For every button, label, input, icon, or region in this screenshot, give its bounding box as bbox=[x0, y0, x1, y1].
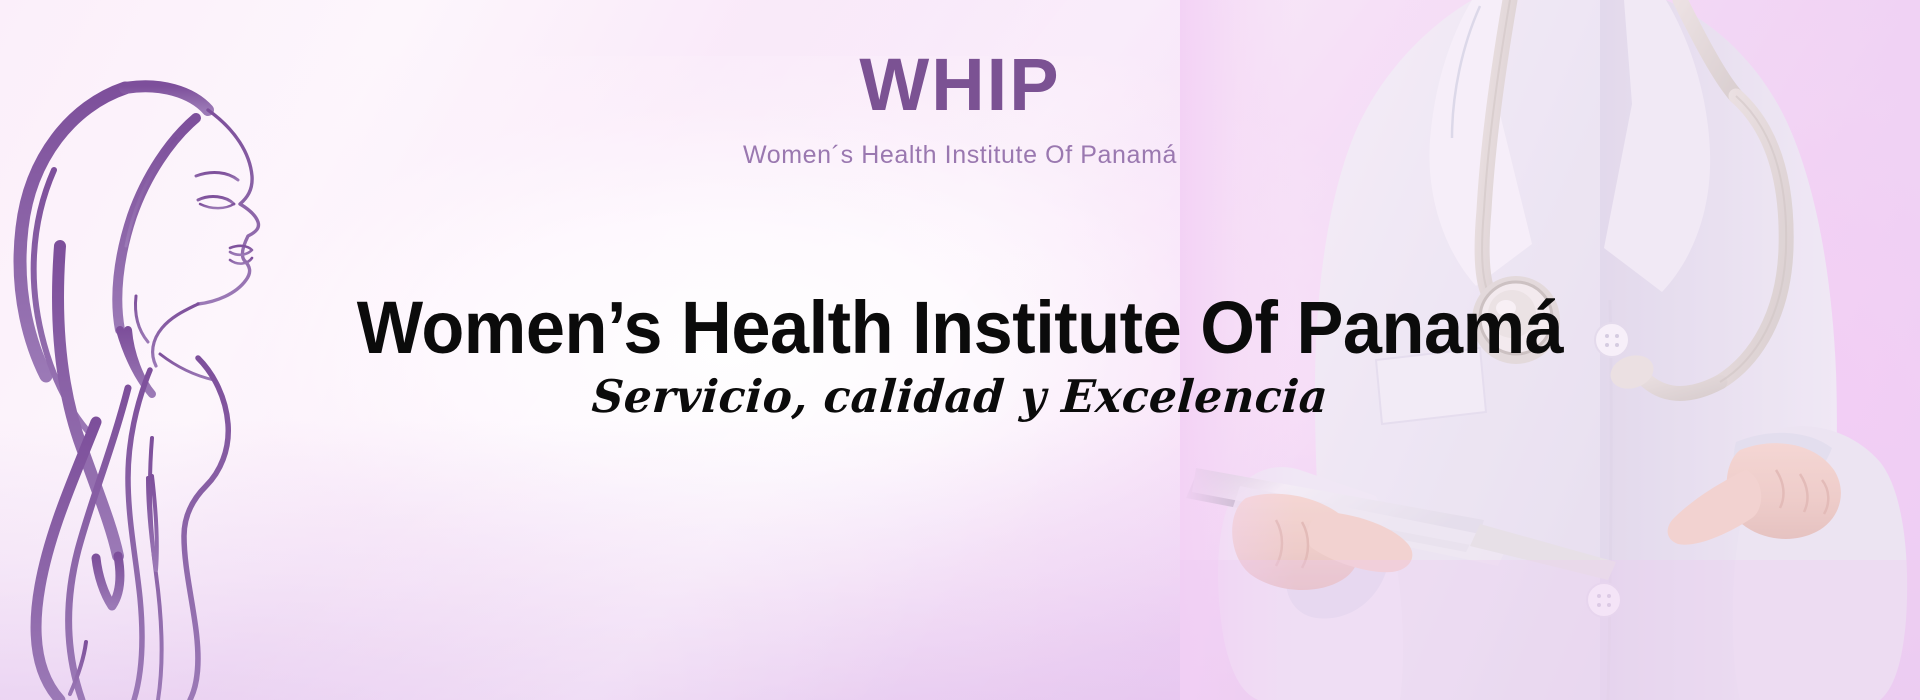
clinic-banner: WHIP Women´s Health Institute Of Panamá … bbox=[0, 0, 1920, 700]
logo-block: WHIP Women´s Health Institute Of Panamá bbox=[0, 48, 1920, 168]
page-title: Women’s Health Institute Of Panamá bbox=[48, 290, 1872, 365]
tagline: Servicio, calidad y Excelencia bbox=[27, 373, 1893, 420]
headline-block: Women’s Health Institute Of Panamá Servi… bbox=[0, 290, 1920, 421]
logo-expansion: Women´s Health Institute Of Panamá bbox=[0, 143, 1920, 168]
logo-acronym: WHIP bbox=[0, 48, 1920, 122]
